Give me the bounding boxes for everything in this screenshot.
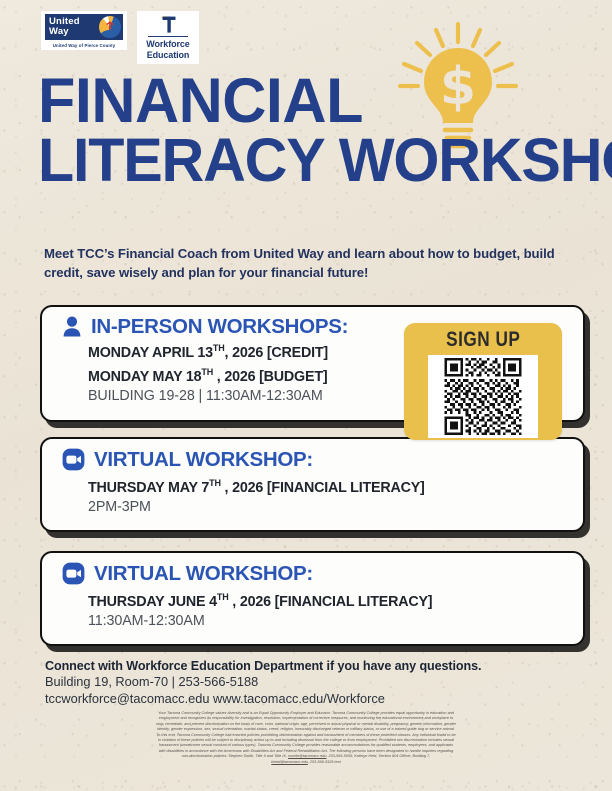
legal-text: , 253-566-5055; Kathryn Held, Section 50… <box>326 754 430 758</box>
date-suffix: , 2026 [BUDGET] <box>213 369 327 385</box>
card-virtual-workshop-may[interactable]: VIRTUAL WORKSHOP: THURSDAY MAY 7TH , 202… <box>40 437 585 532</box>
title-line-2: LITERACY WORKSHOP <box>38 131 567 190</box>
sign-up-box[interactable]: SIGN UP <box>404 323 562 440</box>
legal-disclaimer: Your Tacoma Community College values div… <box>28 711 584 765</box>
date-ordinal: TH <box>217 592 229 602</box>
session-time: 11:30AM-12:30AM <box>88 612 583 632</box>
date-text: MONDAY MAY 18 <box>88 369 201 385</box>
date-text: MONDAY APRIL 13 <box>88 345 213 361</box>
card-title: VIRTUAL WORKSHOP: <box>94 449 313 470</box>
card-body: THURSDAY MAY 7TH , 2026 [FINANCIAL LITER… <box>42 471 583 517</box>
logo-row: United Way United Way of Pierce County <box>41 11 199 64</box>
date-suffix: , 2026 [CREDIT] <box>225 345 328 361</box>
contact-headline: Connect with Workforce Education Departm… <box>45 658 585 674</box>
legal-text: , 253-566-5328 text <box>308 760 341 764</box>
contact-address-phone: Building 19, Room-70 | 253-566-5188 <box>45 674 585 691</box>
date-text: THURSDAY JUNE 4 <box>88 594 217 610</box>
subtitle: Meet TCC’s Financial Coach from United W… <box>44 245 574 282</box>
session-date-1: THURSDAY MAY 7TH , 2026 [FINANCIAL LITER… <box>88 474 583 498</box>
workforce-education-logo: Workforce Education <box>137 11 199 64</box>
page-title: FINANCIAL LITERACY WORKSHOP <box>38 72 567 190</box>
card-title: VIRTUAL WORKSHOP: <box>94 563 313 584</box>
legal-text: non-discrimination policies: Stephen Smi… <box>182 754 288 758</box>
sign-up-label: SIGN UP <box>446 328 520 352</box>
contact-section: Connect with Workforce Education Departm… <box>45 658 585 707</box>
qr-code[interactable] <box>428 355 538 438</box>
title-line-1: FINANCIAL <box>38 72 567 131</box>
united-way-mark: United Way <box>45 14 123 40</box>
united-way-logo: United Way United Way of Pierce County <box>41 11 127 50</box>
card-virtual-workshop-june[interactable]: VIRTUAL WORKSHOP: THURSDAY JUNE 4TH , 20… <box>40 551 585 646</box>
video-camera-icon <box>62 448 85 471</box>
date-ordinal: TH <box>201 367 213 377</box>
date-ordinal: TH <box>213 343 225 353</box>
united-way-word-2: Way <box>49 27 69 37</box>
card-title: IN-PERSON WORKSHOPS: <box>91 316 348 337</box>
person-icon <box>62 316 82 337</box>
united-way-rainbow-icon <box>97 14 123 40</box>
date-text: THURSDAY MAY 7 <box>88 480 209 496</box>
tcc-t-icon <box>155 14 181 34</box>
video-camera-icon <box>62 562 85 585</box>
workforce-education-name: Workforce Education <box>146 39 189 60</box>
date-ordinal: TH <box>209 478 221 488</box>
date-suffix: , 2026 [FINANCIAL LITERACY] <box>229 594 433 610</box>
contact-email-website[interactable]: tccworkforce@tacomacc.edu www.tacomacc.e… <box>45 691 585 708</box>
divider <box>148 36 188 37</box>
card-header: VIRTUAL WORKSHOP: <box>42 553 583 585</box>
united-way-tagline: United Way of Pierce County <box>53 43 116 48</box>
card-body: THURSDAY JUNE 4TH , 2026 [FINANCIAL LITE… <box>42 585 583 631</box>
session-date-1: THURSDAY JUNE 4TH , 2026 [FINANCIAL LITE… <box>88 588 583 612</box>
date-suffix: , 2026 [FINANCIAL LITERACY] <box>221 480 425 496</box>
united-way-wordmark: United Way <box>45 14 97 40</box>
legal-line: kheld@tacomacc.edu, 253-566-5328 text <box>28 760 584 765</box>
legal-email-link[interactable]: ssmith@tacomacc.edu <box>288 754 326 758</box>
session-time: 2PM-3PM <box>88 498 583 518</box>
legal-email-link[interactable]: kheld@tacomacc.edu <box>271 760 307 764</box>
card-header: VIRTUAL WORKSHOP: <box>42 439 583 471</box>
